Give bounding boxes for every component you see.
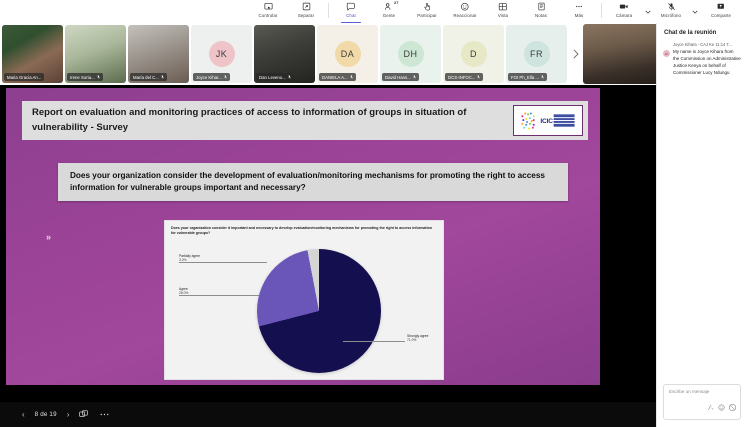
participant-tile[interactable]: DH David Hans...: [380, 25, 441, 83]
chat-panel-title: Chat de la reunión: [657, 23, 747, 42]
slide-question-box: Does your organization consider the deve…: [58, 163, 568, 201]
more-options-icon[interactable]: [99, 410, 110, 419]
participant-name: DCS-INFOC...: [448, 75, 475, 80]
microphone-chevron-down-icon[interactable]: [690, 0, 699, 23]
avatar: JK: [209, 41, 235, 67]
toolbar-separate-label: Separar: [298, 13, 314, 18]
bullet-chevron-icon: »: [46, 232, 51, 242]
chat-avatar: JK: [663, 50, 670, 57]
presentation-slide[interactable]: Report on evaluation and monitoring prac…: [6, 88, 600, 385]
pie-chart: Partially agree 3.0% Agree 26.0% Strongl…: [165, 221, 445, 381]
icic-logo: ICIC INTERNATIONALCONFERENCE OFINFORMATI…: [513, 105, 583, 136]
avatar: D: [461, 41, 487, 67]
next-slide-button[interactable]: ›: [67, 410, 70, 419]
toolbar-raise-hand-label: Participar: [417, 13, 437, 18]
toolbar-chat-button[interactable]: Chat: [332, 0, 370, 23]
toolbar-divider-1: [328, 3, 329, 18]
muted-mic-icon: [350, 75, 353, 80]
toolbar-camera-button[interactable]: Cámara: [605, 0, 643, 23]
chat-message-meta: Joyce Kihara - CAJ Ke 11:14 T...: [663, 42, 741, 47]
chart-label-strongly-agree: Strongly agree 71.0%: [407, 334, 428, 343]
chat-input-placeholder: Escribe un mensaje: [664, 385, 740, 398]
camera-icon: [619, 1, 629, 12]
participant-name-badge: Dan Leveno...: [256, 73, 294, 81]
meeting-chat-panel: Chat de la reunión Joyce Kihara - CAJ Ke…: [656, 23, 747, 427]
participant-name-badge: Irene Soria...: [67, 73, 103, 81]
participant-tile[interactable]: Irene Soria...: [65, 25, 126, 83]
logo-dots-icon: [521, 111, 540, 130]
toolbar-divider-2: [601, 3, 602, 18]
meeting-toolbar: Controlar Separar Chat 27: [0, 0, 747, 23]
slide-grid-icon[interactable]: [79, 410, 89, 419]
leader-line-strongly-agree: [343, 341, 405, 342]
avatar: DA: [335, 41, 361, 67]
shared-content-stage: Report on evaluation and monitoring prac…: [0, 85, 656, 427]
toolbar-people-button[interactable]: 27 Gente: [370, 0, 408, 23]
logo-text: ICIC: [541, 117, 554, 124]
participant-tile[interactable]: D DCS-INFOC...: [443, 25, 504, 83]
toolbar-more-button[interactable]: Más: [560, 0, 598, 23]
raise-hand-icon: [423, 1, 432, 12]
toolbar-react-button[interactable]: Reaccionar: [446, 0, 484, 23]
toolbar-microphone-label: Micrófono: [661, 13, 681, 18]
toolbar-chat-label: Chat: [346, 13, 356, 18]
avatar: DH: [398, 41, 424, 67]
toolbar-main-group: Controlar Separar Chat 27: [249, 0, 743, 23]
toolbar-react-label: Reaccionar: [453, 13, 476, 18]
notes-icon: [537, 1, 546, 12]
avatar: FR: [524, 41, 550, 67]
people-count-badge: 27: [394, 0, 398, 5]
chat-input-box[interactable]: Escribe un mensaje: [663, 384, 741, 420]
participant-name: Maria Gracia An...: [7, 75, 41, 80]
chat-message: JK My name is Joyce Kihara from the Comm…: [663, 49, 741, 77]
participant-filmstrip[interactable]: Maria Gracia An... Irene Soria... María …: [0, 23, 656, 85]
reaction-icon: [460, 1, 470, 12]
participant-name: María del C...: [133, 75, 159, 80]
meeting-window: Controlar Separar Chat 27: [0, 0, 747, 427]
participant-name: Dan Leveno...: [259, 75, 286, 80]
separate-icon: [302, 1, 311, 12]
participant-name-badge: María del C...: [130, 73, 167, 81]
previous-slide-button[interactable]: ‹: [22, 410, 25, 419]
participant-tile[interactable]: DA DANIELA A...: [317, 25, 378, 83]
logo-subtitle: INTERNATIONALCONFERENCE OFINFORMATIONCOM…: [554, 114, 575, 127]
chart-label-agree: Agree 26.0%: [179, 287, 188, 296]
participant-name-badge: David Hans...: [382, 73, 419, 81]
emoji-icon[interactable]: [718, 398, 725, 416]
slide-question-text: Does your organization consider the deve…: [58, 170, 568, 195]
page-title: Report on evaluation and monitoring prac…: [22, 106, 498, 135]
toolbar-people-label: Gente: [383, 13, 395, 18]
participant-name: FOI Ph_Ella ...: [511, 75, 539, 80]
participant-name: David Hans...: [385, 75, 411, 80]
slide-navigation-bar: ‹ 8 de 19 ›: [0, 402, 656, 427]
participant-tile[interactable]: JK Joyce Kihar...: [191, 25, 252, 83]
participant-tile[interactable]: FR FOI Ph_Ella ...: [506, 25, 567, 83]
chat-compose-area: Escribe un mensaje: [657, 379, 747, 427]
toolbar-control-label: Controlar: [259, 13, 278, 18]
toolbar-share-label: Comparte: [711, 13, 731, 18]
avatar-initials: JK: [216, 49, 228, 59]
muted-mic-icon: [541, 75, 544, 80]
chart-label-partially-agree: Partially agree 3.0%: [179, 254, 200, 263]
chat-compose-icons: [707, 398, 736, 416]
grid-view-icon: [498, 1, 508, 12]
slide-header: Report on evaluation and monitoring prac…: [22, 101, 588, 140]
avatar-initials: DA: [341, 49, 355, 59]
toolbar-notes-label: Notas: [535, 13, 547, 18]
camera-chevron-down-icon[interactable]: [643, 0, 652, 23]
pie-chart-card: Does your organization consider it impor…: [164, 220, 444, 380]
filmstrip-next-button[interactable]: [569, 25, 581, 83]
control-icon: [264, 1, 273, 12]
toolbar-notes-button[interactable]: Notas: [522, 0, 560, 23]
share-screen-icon: [716, 1, 726, 12]
muted-mic-icon: [224, 75, 227, 80]
participant-tile[interactable]: Maria Gracia An...: [2, 25, 63, 83]
toolbar-raise-hand-button[interactable]: Participar: [408, 0, 446, 23]
participant-tile[interactable]: Dan Leveno...: [254, 25, 315, 83]
muted-mic-icon: [97, 75, 100, 80]
toolbar-view-label: Vista: [498, 13, 508, 18]
slide-counter: 8 de 19: [35, 411, 57, 418]
muted-mic-icon: [161, 75, 164, 80]
muted-mic-icon: [477, 75, 480, 80]
toolbar-control-button[interactable]: Controlar: [249, 0, 287, 23]
avatar-initials: FR: [530, 49, 543, 59]
muted-mic-icon: [288, 75, 291, 80]
participant-name-badge: DCS-INFOC...: [445, 73, 483, 81]
participant-name-badge: Maria Gracia An...: [4, 73, 44, 81]
chat-message-text: My name is Joyce Kihara from the Commiss…: [673, 49, 741, 77]
participant-name-badge: Joyce Kihar...: [193, 73, 230, 81]
sticker-icon[interactable]: [729, 398, 736, 416]
toolbar-microphone-button[interactable]: Micrófono: [652, 0, 690, 23]
participant-name: DANIELA A...: [322, 75, 348, 80]
microphone-muted-icon: [667, 1, 676, 12]
leader-line-agree: [179, 295, 259, 296]
toolbar-more-label: Más: [575, 13, 584, 18]
avatar-initials: DH: [404, 49, 418, 59]
people-icon: [384, 1, 394, 12]
participant-name-badge: FOI Ph_Ella ...: [508, 73, 547, 81]
toolbar-share-button[interactable]: Comparte: [699, 0, 743, 23]
avatar-initials: D: [470, 49, 477, 59]
pie-slices: [257, 249, 381, 373]
chat-message-list[interactable]: Joyce Kihara - CAJ Ke 11:14 T... JK My n…: [657, 42, 747, 379]
toolbar-camera-label: Cámara: [616, 13, 632, 18]
toolbar-separate-button[interactable]: Separar: [287, 0, 325, 23]
participant-name: Joyce Kihar...: [196, 75, 222, 80]
more-icon: [574, 1, 584, 12]
participant-tile[interactable]: María del C...: [128, 25, 189, 83]
participant-name-badge: DANIELA A...: [319, 73, 356, 81]
format-icon[interactable]: [707, 398, 714, 416]
chat-icon: [346, 1, 356, 12]
toolbar-view-button[interactable]: Vista: [484, 0, 522, 23]
participant-name: Irene Soria...: [70, 75, 95, 80]
muted-mic-icon: [413, 75, 416, 80]
